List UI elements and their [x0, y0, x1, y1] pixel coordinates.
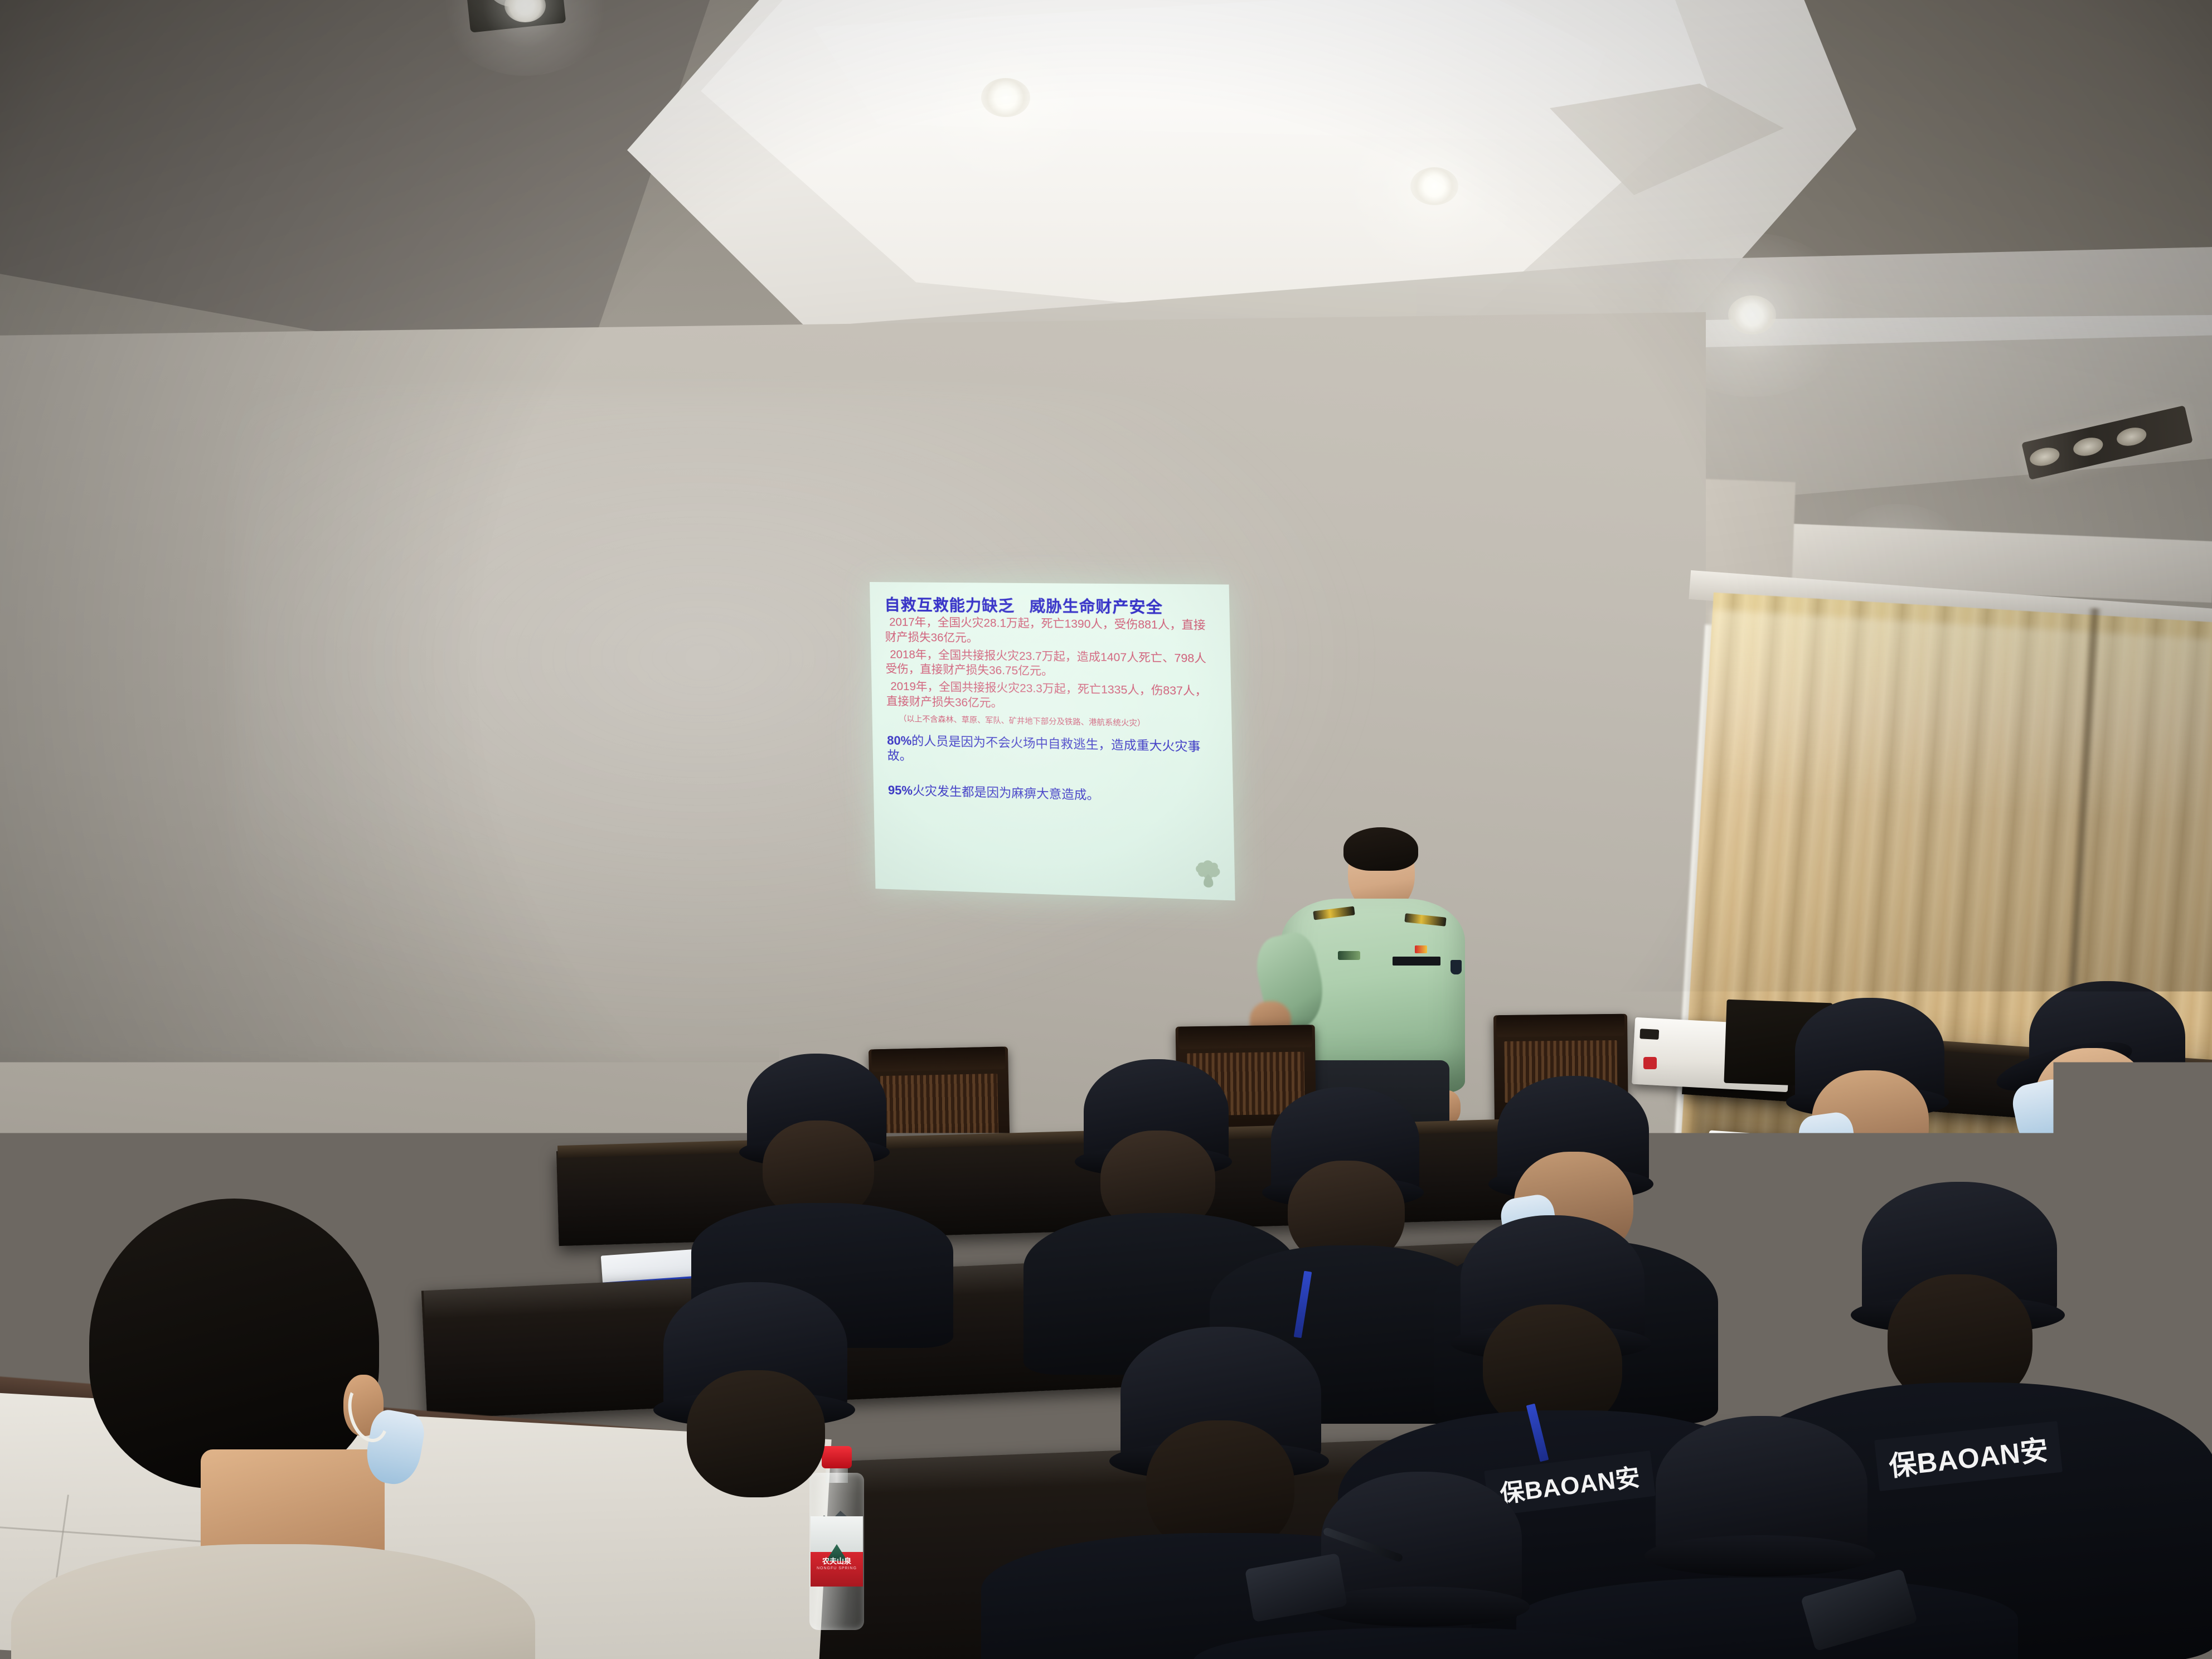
slide-highlight-95-figure: 95%	[888, 783, 913, 798]
presenter-name-tag	[1393, 957, 1440, 966]
slide-highlight-95: 95%火灾发生都是因为麻痹大意造成。	[888, 783, 1220, 807]
slide-title-left: 自救互救能力缺乏	[884, 596, 1015, 614]
case-handle-icon	[1639, 1029, 1659, 1040]
ceiling-downlight-1	[981, 78, 1030, 117]
curtain-highlight	[1701, 610, 2212, 823]
armband-text: 值班	[583, 1547, 618, 1574]
slide-highlight-80-figure: 80%	[887, 733, 911, 748]
presenter-flag-pin-icon	[1415, 945, 1427, 953]
slide-title: 自救互救能力缺乏威胁生命财产安全	[884, 596, 1216, 616]
ceiling-downlight-3	[1728, 295, 1776, 334]
slide-highlight-80: 80%的人员是因为不会火场中自救逃生，造成重大火灾事故。	[887, 733, 1220, 771]
guard-armband: 值班	[571, 1525, 661, 1619]
chair-top-rail	[1496, 1014, 1625, 1037]
audience-guard-10: 值班	[585, 1282, 976, 1659]
chair-top-rail	[1178, 1025, 1313, 1049]
slide-stat-2018: 2018年，全国共接报火灾23.7万起，造成1407人死亡、798人受伤，直接财…	[885, 647, 1218, 682]
slide-watermark-icon	[1191, 857, 1225, 894]
audience-foreground-civilian	[33, 1187, 535, 1659]
slide-title-right: 威胁生命财产安全	[1029, 597, 1163, 616]
civilian-torso	[11, 1544, 535, 1659]
slide-stat-2019: 2019年，全国共接报火灾23.3万起，死亡1335人，伤837人，直接财产损失…	[886, 679, 1219, 715]
slide-footnote: （以上不含森林、草原、军队、矿井地下部分及铁路、港航系统火灾）	[899, 714, 1219, 730]
guard-torso	[1193, 1628, 1661, 1659]
slide-stat-2017: 2017年，全国火灾28.1万起，死亡1390人，受伤881人，直接财产损失36…	[885, 615, 1217, 649]
slide-highlight-80-text: 的人员是因为不会火场中自救逃生，造成重大火灾事故。	[887, 734, 1201, 763]
presenter-sleeve-patch-icon	[1451, 960, 1462, 974]
ceiling-downlight-2	[1410, 167, 1458, 205]
presenter-hair	[1343, 827, 1418, 871]
case-red-marker-icon	[1643, 1057, 1657, 1069]
guard-cap-brim-icon	[1645, 1535, 1875, 1576]
projected-slide: 自救互救能力缺乏威胁生命财产安全 2017年，全国火灾28.1万起，死亡1390…	[870, 582, 1235, 900]
presenter-collar-badge-icon	[1338, 951, 1360, 960]
slide-highlight-95-text: 火灾发生都是因为麻痹大意造成。	[913, 784, 1100, 803]
civilian-hair	[89, 1199, 379, 1488]
ceiling-downlight-5	[505, 0, 546, 22]
meeting-room-photo: 自救互救能力缺乏威胁生命财产安全 2017年，全国火灾28.1万起，死亡1390…	[0, 0, 2212, 1659]
